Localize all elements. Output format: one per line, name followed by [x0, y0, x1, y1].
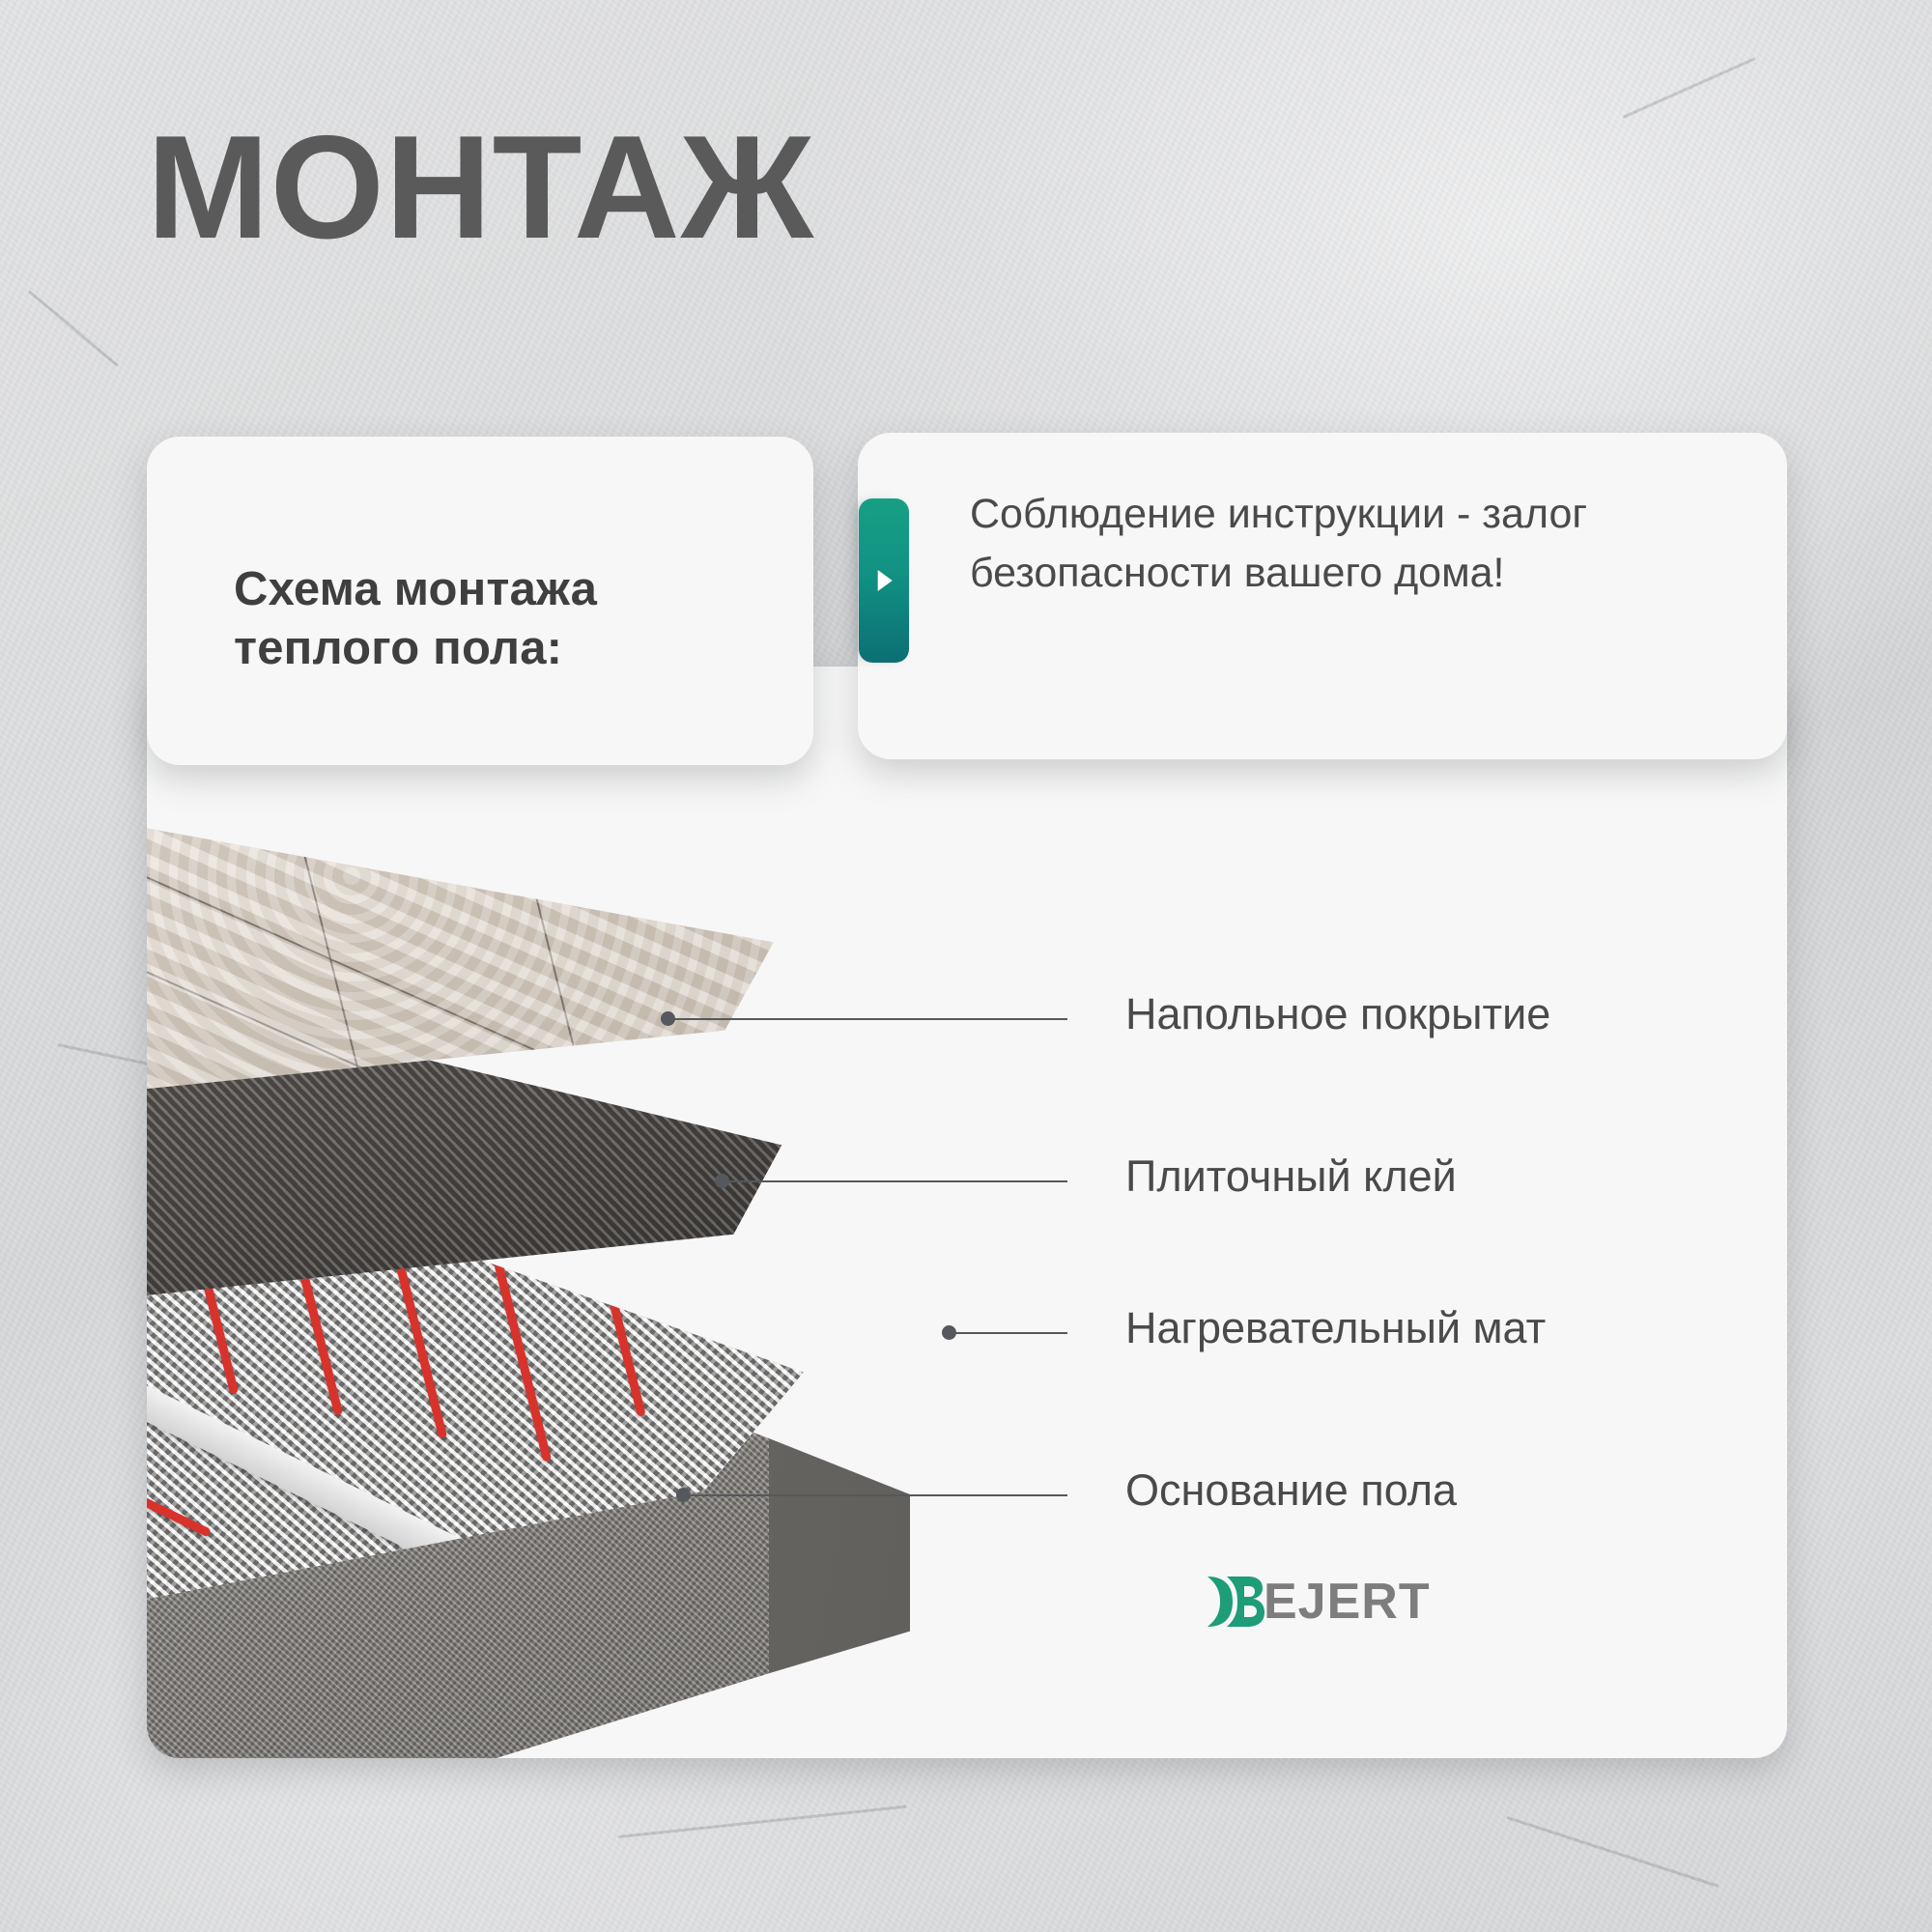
leader-line: [727, 1180, 1067, 1182]
layer-label-heating-mat: Нагревательный мат: [1125, 1303, 1546, 1353]
background-crack: [618, 1805, 907, 1838]
background-crack: [1622, 57, 1755, 119]
leader-dot: [661, 1011, 675, 1026]
play-arrow-icon: [878, 570, 893, 591]
leader-dot: [676, 1488, 691, 1502]
leader-dot: [942, 1325, 956, 1340]
bejert-logo-text: EJERT: [1264, 1573, 1431, 1631]
notice-card: Соблюдение инструкции - залог безопаснос…: [858, 433, 1787, 759]
layer-label-tile-adhesive: Плиточный клей: [1125, 1151, 1457, 1202]
scheme-heading: Схема монтажа теплого пола:: [234, 560, 736, 678]
floor-covering-layer: [147, 729, 910, 1096]
floor-heating-layers-illustration: [147, 729, 910, 1758]
tile-grout-line: [523, 846, 587, 1099]
leader-line: [689, 1494, 1067, 1496]
leader-line: [673, 1018, 1067, 1020]
page-title: МОНТАЖ: [147, 114, 814, 261]
layer-label-floor-covering: Напольное покрытие: [1125, 989, 1550, 1039]
background-crack: [28, 290, 119, 366]
leader-dot: [715, 1174, 729, 1188]
bejert-b-mark-icon: [1206, 1573, 1267, 1631]
bejert-logo: EJERT: [1206, 1573, 1431, 1631]
heating-cable-bend: [147, 1489, 212, 1537]
tile-grout-line: [281, 765, 360, 1075]
background-crack: [1507, 1816, 1719, 1888]
notice-accent-bar: [859, 498, 909, 663]
layer-label-floor-base: Основание пола: [1125, 1465, 1457, 1516]
notice-text: Соблюдение инструкции - залог безопаснос…: [970, 485, 1733, 603]
leader-line: [954, 1332, 1067, 1334]
scheme-heading-card: Схема монтажа теплого пола:: [147, 437, 813, 765]
